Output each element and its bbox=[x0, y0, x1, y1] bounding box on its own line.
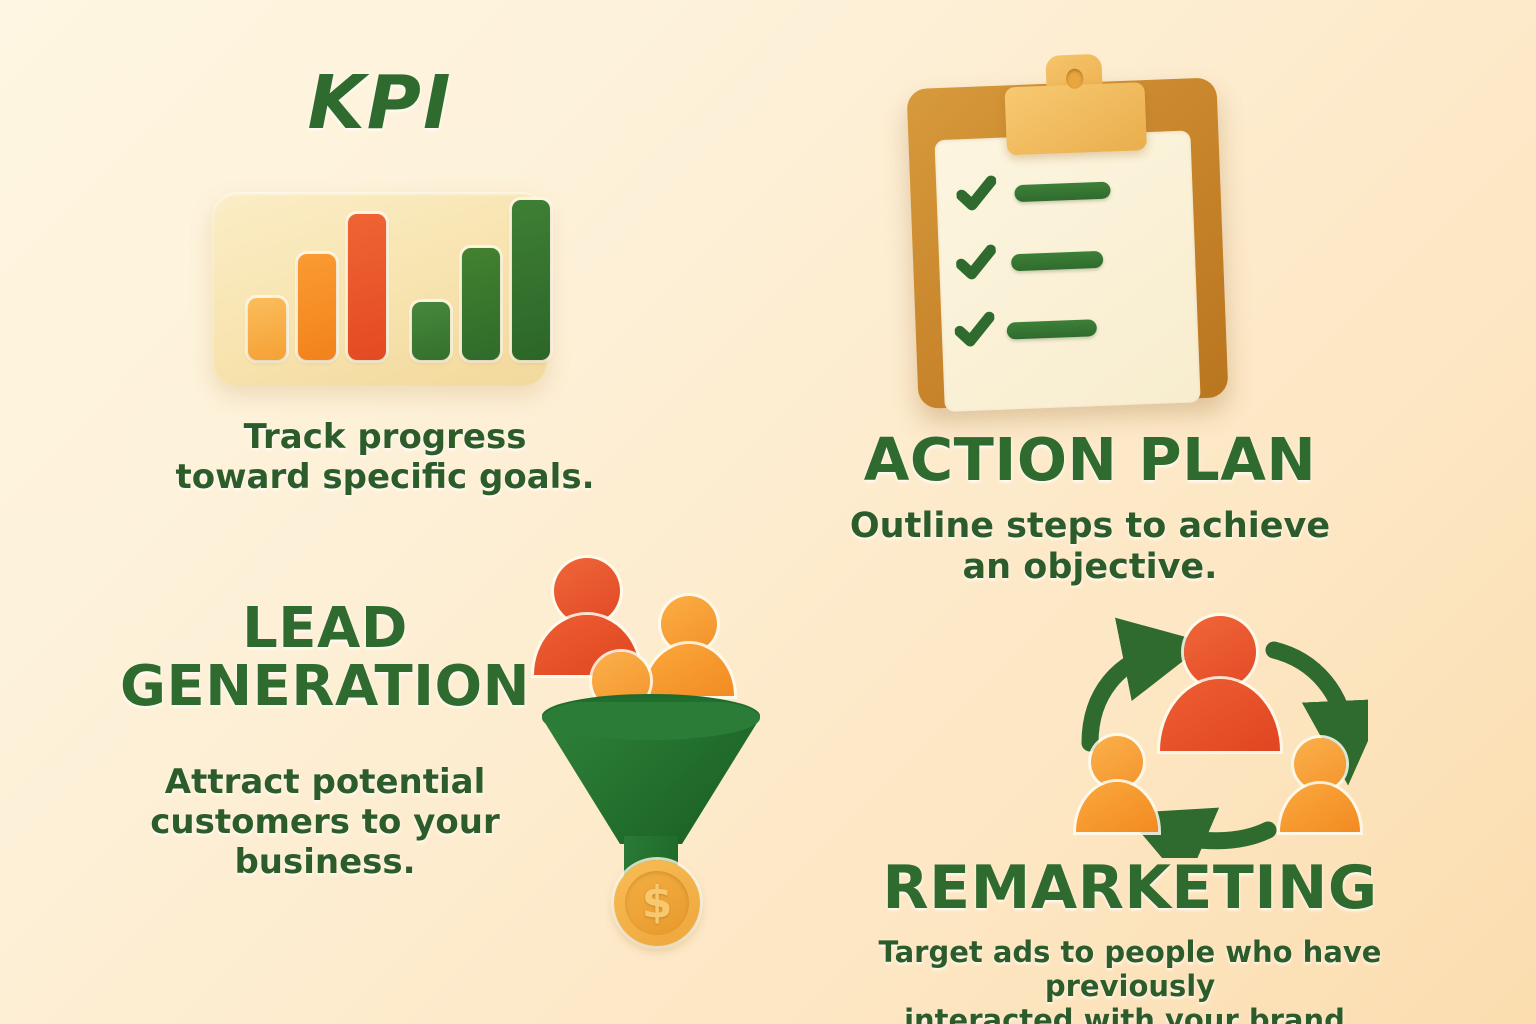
clipboard-clip bbox=[1003, 52, 1147, 155]
chart-bar bbox=[298, 254, 336, 360]
action-plan-heading: ACTION PLAN bbox=[840, 430, 1340, 489]
customer-retargeting-cycle-icon bbox=[1068, 608, 1368, 858]
person-body bbox=[1280, 784, 1360, 832]
lead-generation-caption: Attract potential customers to your busi… bbox=[130, 762, 520, 882]
person-icon bbox=[1160, 616, 1280, 756]
check-icon bbox=[954, 310, 996, 352]
lead-generation-caption-line: Attract potential bbox=[130, 762, 520, 802]
lead-generation-heading: LEAD GENERATION bbox=[100, 600, 550, 715]
check-icon bbox=[955, 243, 997, 285]
chart-bar bbox=[248, 298, 286, 360]
person-head bbox=[1091, 736, 1143, 788]
action-plan-caption: Outline steps to achieve an objective. bbox=[830, 506, 1350, 589]
kpi-caption-line: toward specific goals. bbox=[170, 457, 600, 497]
checklist-line bbox=[1011, 251, 1104, 272]
chart-bar bbox=[462, 248, 500, 360]
person-head bbox=[1294, 738, 1346, 790]
clip-base bbox=[1004, 82, 1147, 155]
lead-generation-caption-line: customers to your bbox=[130, 802, 520, 842]
remarketing-caption-line: interacted with your brand. bbox=[800, 1003, 1460, 1024]
clipboard-checklist-icon bbox=[905, 49, 1238, 411]
chart-bar bbox=[412, 302, 450, 360]
lead-generation-caption-line: business. bbox=[130, 842, 520, 882]
remarketing-caption: Target ads to people who have previously… bbox=[800, 935, 1460, 1024]
lead-generation-heading-line: LEAD bbox=[100, 600, 550, 658]
person-icon bbox=[1280, 738, 1360, 832]
dollar-sign: $ bbox=[625, 871, 689, 935]
remarketing-heading: REMARKETING bbox=[840, 858, 1420, 918]
chart-bar bbox=[348, 214, 386, 360]
person-body bbox=[1076, 782, 1158, 832]
clipboard-paper bbox=[934, 130, 1200, 412]
check-icon bbox=[956, 174, 998, 216]
action-plan-caption-line: Outline steps to achieve bbox=[830, 506, 1350, 547]
infographic-poster: KPI Track progress toward specific goals… bbox=[0, 0, 1536, 1024]
checklist-line bbox=[1014, 181, 1111, 202]
coin-inner: $ bbox=[625, 871, 689, 935]
sales-funnel-icon: $ bbox=[520, 548, 790, 958]
dollar-coin-icon: $ bbox=[614, 860, 700, 946]
checklist-line bbox=[1007, 319, 1098, 339]
chart-bar bbox=[512, 200, 550, 360]
kpi-caption-line: Track progress bbox=[170, 417, 600, 457]
kpi-heading: KPI bbox=[205, 66, 555, 140]
bar-chart-card-icon bbox=[212, 192, 548, 386]
kpi-caption: Track progress toward specific goals. bbox=[170, 417, 600, 497]
remarketing-caption-line: Target ads to people who have previously bbox=[800, 935, 1460, 1003]
person-head bbox=[1184, 616, 1256, 688]
person-icon bbox=[1076, 736, 1158, 832]
funnel-cone bbox=[542, 702, 760, 852]
action-plan-caption-line: an objective. bbox=[830, 547, 1350, 588]
person-body bbox=[1160, 679, 1280, 751]
lead-generation-heading-line: GENERATION bbox=[100, 658, 550, 716]
